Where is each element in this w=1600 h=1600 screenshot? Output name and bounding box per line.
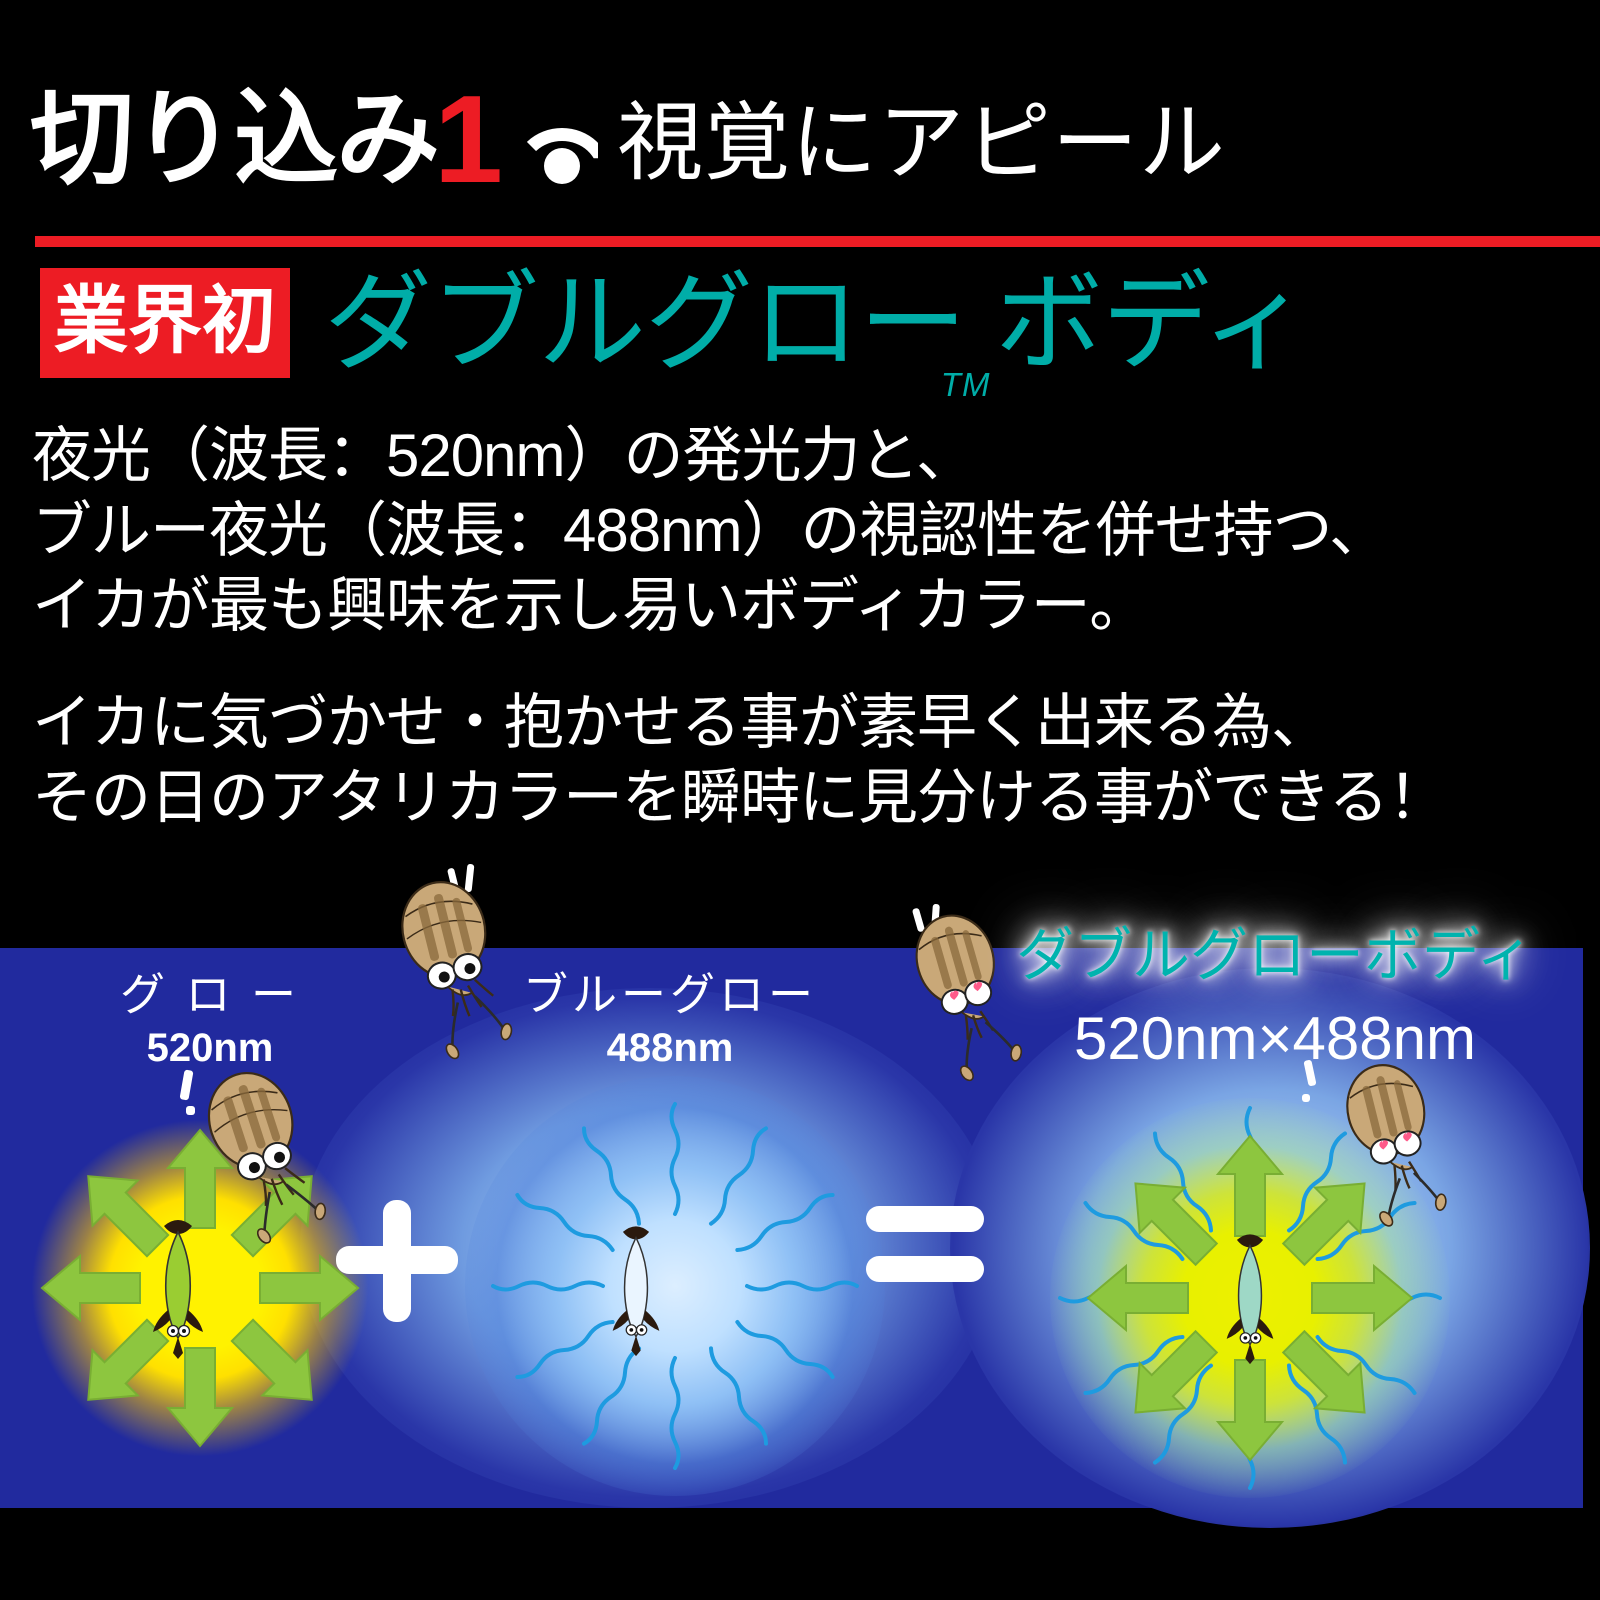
red-divider-rule [35,236,1600,247]
equals-bar-bottom [866,1256,984,1282]
column-label-blueglow: ブルーグロー 488nm [500,970,840,1072]
blue-squiggle-burst-2 [465,1076,885,1496]
equals-bar-top [866,1206,984,1232]
kicker-number: 1 [434,90,503,192]
column-label-blueglow-jp: ブルーグロー [500,970,840,1020]
kicker-tail-text: 視覚にアピール [617,100,1226,186]
body-line-5: その日のアタリカラーを瞬時に見分ける事ができる！ [32,760,1572,835]
eye-pupil [544,148,580,184]
kicker-text: 切り込み [30,88,438,192]
column-label-glow-nm: 520nm [60,1024,360,1072]
cuttlefish-character-4 [1330,1056,1460,1236]
column-label-blueglow-nm: 488nm [500,1024,840,1072]
egi-lure-green [148,1210,208,1360]
exclaim-mark-1 [179,1069,193,1100]
product-headline: ダブルグロー ボディ TM [324,269,1308,377]
plus-bar-vertical [383,1200,411,1322]
industry-first-badge: 業界初 [40,268,290,378]
cuttlefish-character-2 [388,876,518,1056]
eye-icon [513,110,611,188]
body-line-3: イカが最も興味を示し易いボディカラー。 [32,568,1572,643]
double-glow-body-title: ダブルグローボディ 520nm×488nm [975,908,1575,1073]
cuttlefish-character-1 [196,1066,326,1226]
body-line-2: ブルー夜光（波長：488nm）の視認性を併せ持つ、 [32,493,1572,568]
equals-operator-group [866,1200,984,1292]
column-label-glow-jp: グ ロ ー [60,970,360,1020]
trademark-mark: TM [941,368,991,401]
exclaim-dot-1 [186,1106,195,1115]
body-copy-block: 夜光（波長：520nm）の発光力と、 ブルー夜光（波長：488nm）の視認性を併… [32,418,1572,835]
double-glow-body-title-text: ダブルグローボディ [975,908,1575,992]
egi-lure-clear [608,1212,664,1362]
double-glow-body-wavelengths: 520nm×488nm [975,1004,1575,1073]
column-label-glow: グ ロ ー 520nm [60,970,360,1072]
plus-operator-group [336,1200,458,1322]
body-line-4: イカに気づかせ・抱かせる事が素早く出来る為、 [32,685,1572,760]
headline-row: 業界初 ダブルグロー ボディ TM [40,268,1308,378]
paragraph-gap [32,643,1572,685]
kicker-row: 切り込み 1 視覚にアピール [30,88,1226,192]
product-headline-text: ダブルグロー ボディ [324,262,1308,383]
egi-lure-teal [1222,1220,1278,1370]
header-section: 切り込み 1 視覚にアピール [0,0,1600,250]
body-line-1: 夜光（波長：520nm）の発光力と、 [32,418,1572,493]
